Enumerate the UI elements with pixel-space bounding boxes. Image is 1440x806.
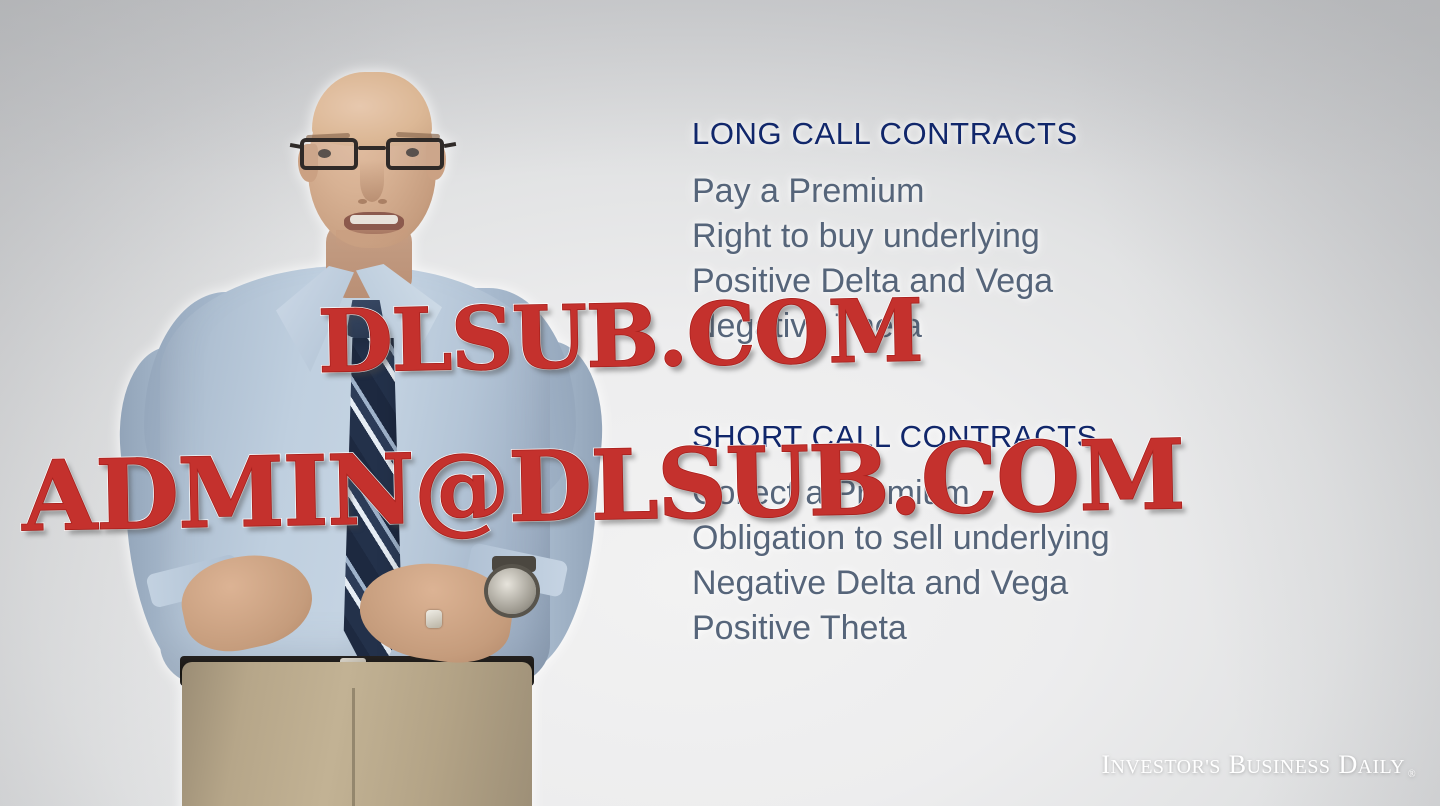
email-watermark: ADMIN@DLSUB.COM — [21, 427, 1185, 545]
investors-business-daily-logo: INVESTOR'S BUSINESS DAILY ® — [1101, 750, 1416, 780]
long-call-line-1: Pay a Premium — [692, 169, 1292, 214]
eyeglasses-left-temple — [290, 143, 303, 149]
eyeglasses-left-lens — [300, 138, 358, 170]
long-call-title: LONG CALL CONTRACTS — [692, 114, 1292, 154]
logo-word1-rest: NVESTOR'S — [1111, 756, 1221, 778]
logo-word2-rest: USINESS — [1247, 756, 1331, 778]
wristwatch-icon — [488, 568, 536, 614]
video-frame: LONG CALL CONTRACTS Pay a Premium Right … — [0, 0, 1440, 806]
presenter-nose — [360, 160, 384, 202]
presenter-chin — [336, 230, 408, 254]
eyeglasses-bridge — [358, 146, 386, 150]
eyeglasses-right-temple — [444, 142, 457, 148]
eyeglasses-right-lens — [386, 138, 444, 170]
site-watermark: DLSUB.COM — [317, 288, 923, 386]
logo-word2-cap: B — [1229, 750, 1247, 779]
presenter-figure — [40, 16, 660, 806]
short-call-line-4: Positive Theta — [692, 606, 1292, 651]
logo-word3-cap: D — [1338, 750, 1357, 779]
khaki-trousers — [182, 662, 532, 806]
presenter-teeth — [350, 215, 398, 224]
logo-word1-cap: I — [1101, 750, 1110, 779]
registered-trademark-icon: ® — [1408, 769, 1416, 780]
presenter-right-nostril — [378, 199, 387, 204]
wedding-ring — [426, 610, 442, 628]
trouser-seam — [352, 688, 355, 806]
presenter-left-nostril — [358, 199, 367, 204]
short-call-line-3: Negative Delta and Vega — [692, 561, 1292, 606]
logo-word3-rest: AILY — [1358, 756, 1405, 778]
long-call-line-2: Right to buy underlying — [692, 214, 1292, 259]
